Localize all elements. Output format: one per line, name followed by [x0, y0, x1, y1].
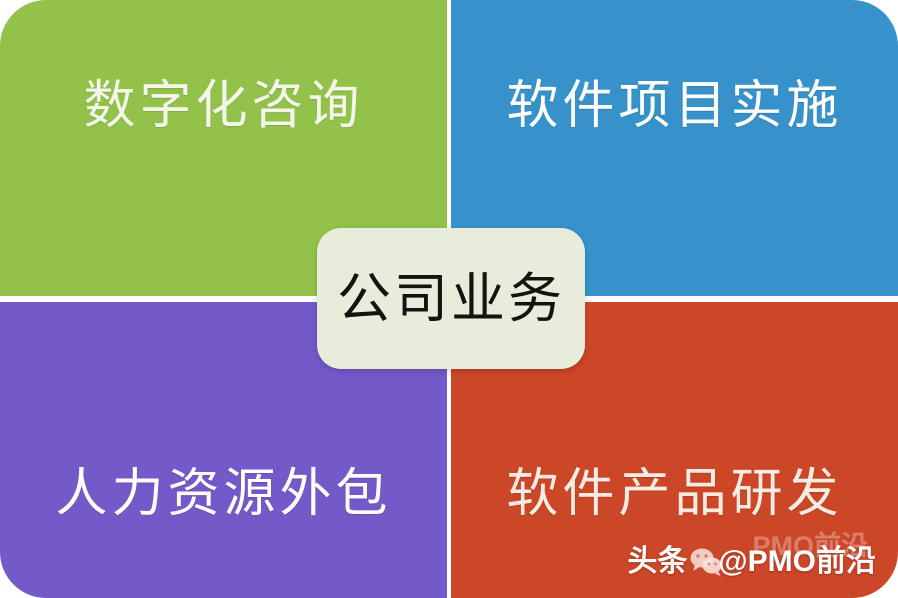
diagram-canvas: 数字化咨询 软件项目实施 人力资源外包 软件产品研发 公司业务 PMO前沿 头条: [0, 0, 898, 598]
quadrant-label-bottom-right: 软件产品研发: [506, 468, 842, 520]
center-hub[interactable]: 公司业务: [317, 228, 585, 369]
watermark-handle-label: @PMO前沿: [718, 547, 876, 577]
quadrant-label-bottom-left: 人力资源外包: [55, 468, 391, 520]
center-hub-label: 公司业务: [337, 272, 565, 326]
watermark: PMO前沿 头条 @PMO前沿: [627, 538, 876, 586]
wechat-icon: [689, 547, 723, 577]
quadrant-label-top-right: 软件项目实施: [506, 80, 842, 132]
watermark-main: 头条 @PMO前沿: [627, 547, 876, 577]
watermark-platform-label: 头条: [627, 547, 687, 577]
quadrant-label-top-left: 数字化咨询: [83, 80, 363, 132]
